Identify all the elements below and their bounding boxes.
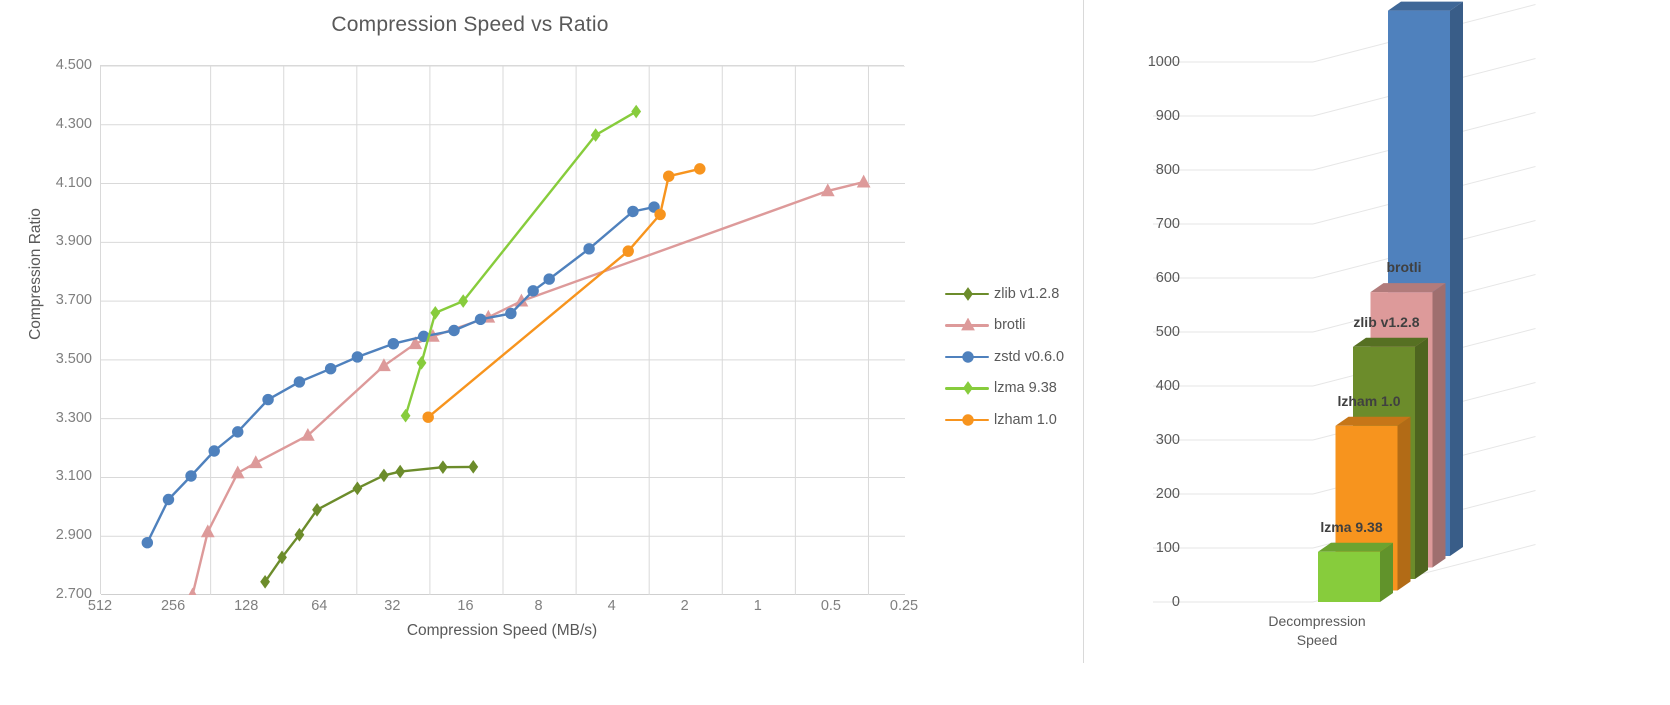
x-tick-label: 128 bbox=[234, 598, 258, 614]
legend-marker-icon bbox=[945, 381, 989, 395]
bar-y-tick-label: 600 bbox=[1110, 270, 1180, 286]
legend-item-lzham[interactable]: lzham 1.0 bbox=[945, 404, 1085, 436]
legend-marker-icon bbox=[945, 318, 989, 332]
y-tick-label: 4.300 bbox=[28, 116, 92, 132]
y-tick-label: 2.700 bbox=[28, 586, 92, 602]
x-tick-label: 32 bbox=[384, 598, 400, 614]
bar-label-lzma: lzma 9.38 bbox=[1320, 519, 1382, 535]
y-tick-label: 3.300 bbox=[28, 410, 92, 426]
bar-label-zlib: zlib v1.2.8 bbox=[1353, 314, 1419, 330]
y-axis-title: Compression Ratio bbox=[27, 174, 45, 374]
bar-label-brotli: brotli bbox=[1387, 259, 1422, 275]
x-tick-label: 16 bbox=[457, 598, 473, 614]
bar-y-tick-label: 700 bbox=[1110, 216, 1180, 232]
bar-label-lzham: lzham 1.0 bbox=[1337, 393, 1400, 409]
x-tick-label: 2 bbox=[681, 598, 689, 614]
chart-legend: zlib v1.2.8brotlizstd v0.6.0lzma 9.38lzh… bbox=[945, 278, 1085, 436]
y-tick-label: 4.500 bbox=[28, 57, 92, 73]
bar-y-tick-label: 900 bbox=[1110, 108, 1180, 124]
series-lzma bbox=[401, 105, 641, 423]
series-brotli bbox=[186, 175, 871, 595]
legend-item-label: lzham 1.0 bbox=[994, 412, 1057, 428]
bar-y-tick-label: 800 bbox=[1110, 162, 1180, 178]
chart-dashboard: Compression Speed vs Ratio 4.5004.3004.1… bbox=[0, 0, 1670, 705]
bar-lzma bbox=[1318, 543, 1393, 602]
series-lzham bbox=[422, 163, 705, 423]
x-tick-label: 512 bbox=[88, 598, 112, 614]
x-tick-label: 4 bbox=[608, 598, 616, 614]
x-tick-label: 64 bbox=[311, 598, 327, 614]
compression-scatter-chart: Compression Speed vs Ratio 4.5004.3004.1… bbox=[0, 0, 1083, 705]
x-tick-label: 0.5 bbox=[821, 598, 841, 614]
plot-area bbox=[100, 65, 904, 594]
x-axis-tick-labels: 51225612864321684210.50.25 bbox=[100, 598, 904, 622]
y-tick-label: 2.900 bbox=[28, 527, 92, 543]
x-tick-label: 0.25 bbox=[890, 598, 918, 614]
x-axis-title: Compression Speed (MB/s) bbox=[100, 622, 904, 640]
series-zstd bbox=[142, 201, 660, 548]
bar-y-axis-tick-labels: 01002003004005006007008009001000 bbox=[1110, 0, 1180, 705]
bar-y-tick-label: 1000 bbox=[1110, 54, 1180, 70]
bar-y-tick-label: 0 bbox=[1110, 594, 1180, 610]
legend-item-label: lzma 9.38 bbox=[994, 380, 1057, 396]
legend-item-label: zstd v0.6.0 bbox=[994, 349, 1064, 365]
bar-category-axis-label: Decompression Speed bbox=[1247, 612, 1387, 650]
plot-svg bbox=[101, 66, 905, 595]
legend-marker-icon bbox=[945, 350, 989, 364]
legend-item-zstd[interactable]: zstd v0.6.0 bbox=[945, 341, 1085, 373]
x-tick-label: 8 bbox=[534, 598, 542, 614]
legend-marker-icon bbox=[945, 413, 989, 427]
legend-item-label: zlib v1.2.8 bbox=[994, 286, 1059, 302]
bar-y-tick-label: 100 bbox=[1110, 540, 1180, 556]
x-tick-label: 256 bbox=[161, 598, 185, 614]
chart-title: Compression Speed vs Ratio bbox=[0, 13, 940, 37]
legend-marker-icon bbox=[945, 287, 989, 301]
series-zlib bbox=[260, 460, 478, 589]
bar-y-tick-label: 300 bbox=[1110, 432, 1180, 448]
legend-item-label: brotli bbox=[994, 317, 1025, 333]
x-tick-label: 1 bbox=[754, 598, 762, 614]
legend-item-lzma[interactable]: lzma 9.38 bbox=[945, 373, 1085, 405]
bar-y-tick-label: 400 bbox=[1110, 378, 1180, 394]
legend-item-brotli[interactable]: brotli bbox=[945, 310, 1085, 342]
bar-y-tick-label: 200 bbox=[1110, 486, 1180, 502]
bar-category-axis-label-line1: Decompression bbox=[1247, 612, 1387, 631]
legend-item-zlib[interactable]: zlib v1.2.8 bbox=[945, 278, 1085, 310]
bar-category-axis-label-line2: Speed bbox=[1247, 631, 1387, 650]
y-tick-label: 3.100 bbox=[28, 468, 92, 484]
bar-y-tick-label: 500 bbox=[1110, 324, 1180, 340]
